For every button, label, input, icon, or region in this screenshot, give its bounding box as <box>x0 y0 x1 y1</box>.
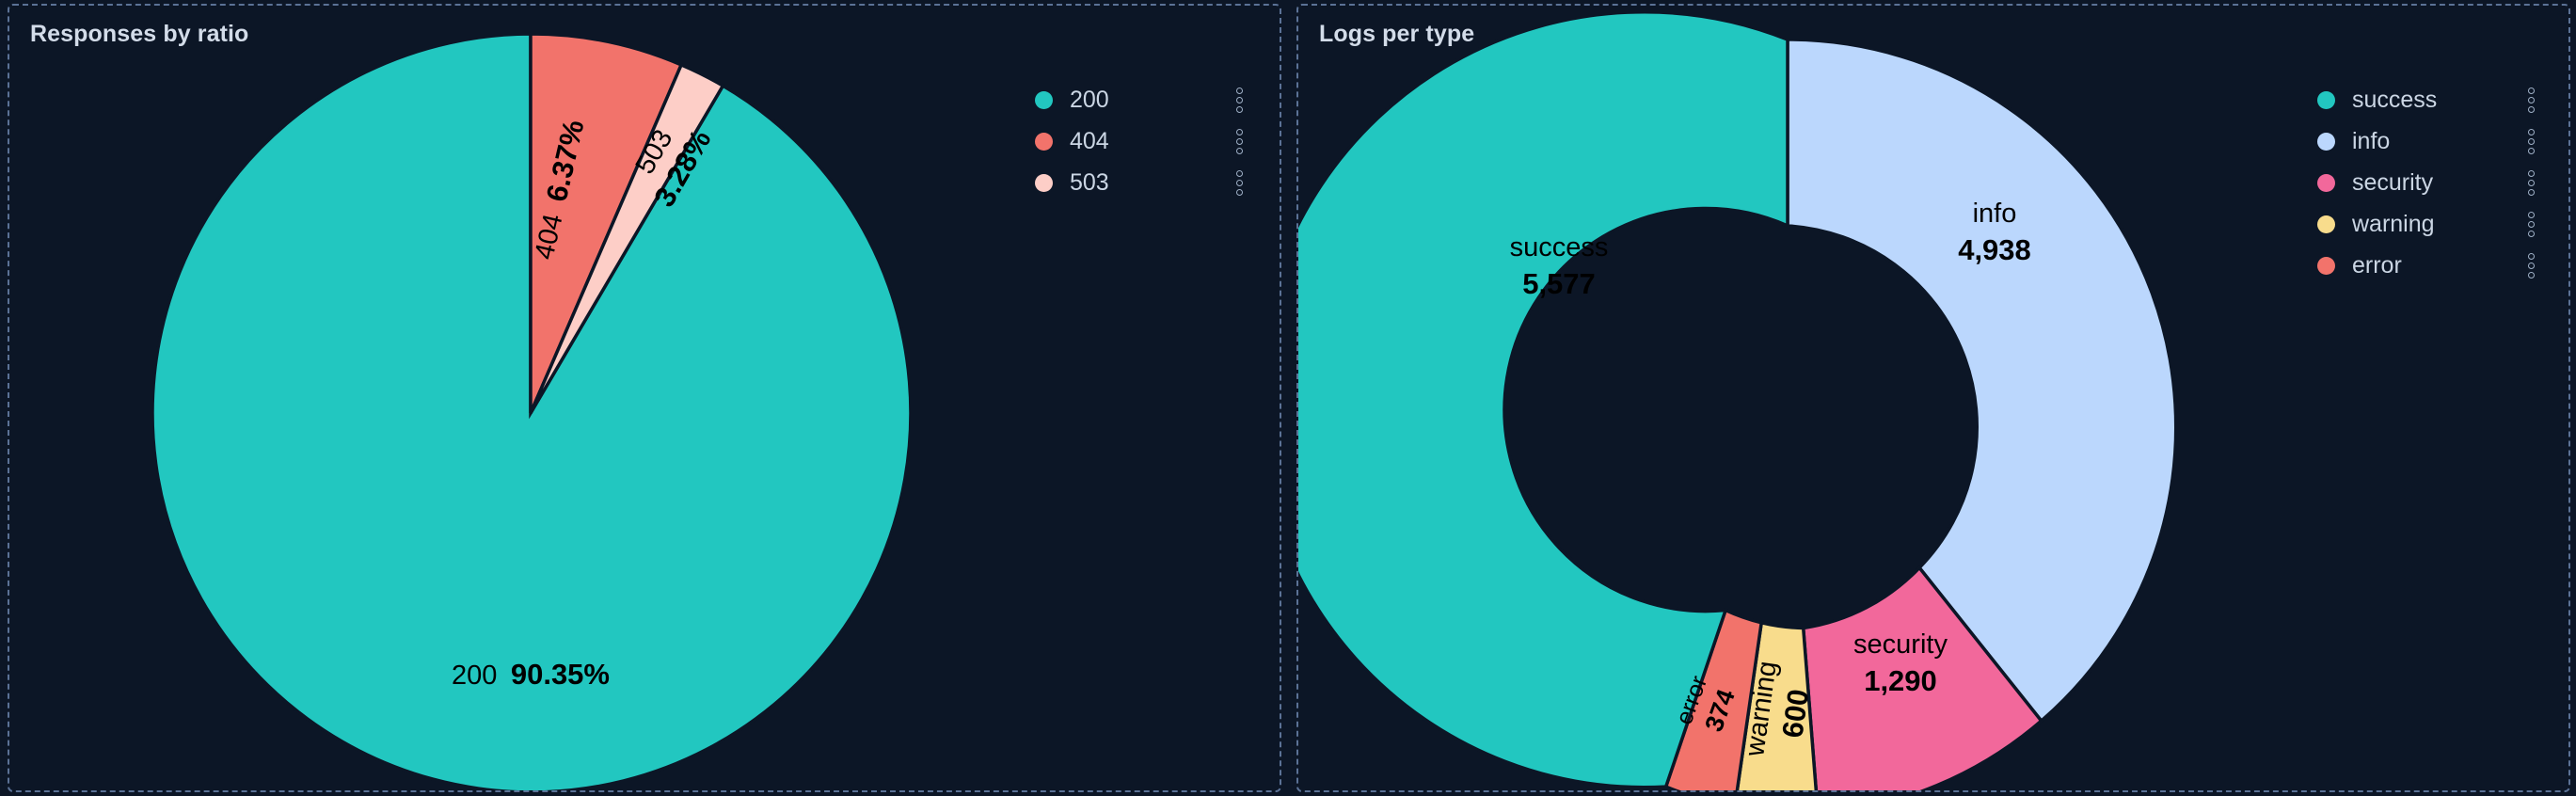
legend-item-label: 503 <box>1070 169 1109 197</box>
legend-item-error[interactable]: error <box>2317 245 2543 286</box>
legend-item-warning[interactable]: warning <box>2317 203 2543 245</box>
panel-logs-per-type: Logs per type success <box>1296 4 2570 792</box>
slice-label-name: success <box>1510 232 1609 263</box>
kebab-menu-icon[interactable] <box>2519 170 2543 196</box>
panel-responses-by-ratio: Responses by ratio 200 90.35% <box>8 4 1281 792</box>
legend-item-503[interactable]: 503 <box>1035 162 1251 203</box>
svg-text:4,938: 4,938 <box>1958 233 2031 266</box>
donut-chart-area: success 5,577 info 4,938 s <box>1298 6 2568 790</box>
kebab-menu-icon[interactable] <box>2519 253 2543 279</box>
legend-item-label: error <box>2352 252 2402 279</box>
legend-item-info[interactable]: info <box>2317 120 2543 162</box>
legend-item-404[interactable]: 404 <box>1035 120 1251 162</box>
legend-swatch-icon <box>2317 257 2335 275</box>
legend-item-label: security <box>2352 169 2433 197</box>
legend-swatch-icon <box>1035 133 1053 151</box>
legend-swatch-icon <box>1035 91 1053 109</box>
slice-label-value: 600 <box>1776 687 1816 740</box>
legend-swatch-icon <box>1035 174 1053 192</box>
legend-item-label: info <box>2352 128 2390 155</box>
slice-label-value: 5,577 <box>1522 267 1596 300</box>
svg-text:600: 600 <box>1776 687 1816 740</box>
dashboard: Responses by ratio 200 90.35% <box>0 0 2576 796</box>
svg-text:200 90.35%: 200 90.35% <box>452 658 610 691</box>
kebab-menu-icon[interactable] <box>2519 88 2543 113</box>
pie-slice-label-200: 200 90.35% <box>452 658 610 691</box>
slice-label-name: 200 <box>452 661 497 691</box>
pie-legend: 200 404 503 <box>1035 79 1251 203</box>
legend-swatch-icon <box>2317 215 2335 233</box>
svg-text:1,290: 1,290 <box>1864 664 1937 697</box>
legend-item-label: success <box>2352 87 2437 114</box>
legend-item-label: warning <box>2352 211 2435 238</box>
pie-chart-area: 200 90.35% 404 6.37% 503 3.28% <box>9 6 1280 790</box>
slice-label-value: 1,290 <box>1864 664 1937 697</box>
legend-item-200[interactable]: 200 <box>1035 79 1251 120</box>
legend-item-security[interactable]: security <box>2317 162 2543 203</box>
legend-swatch-icon <box>2317 133 2335 151</box>
legend-swatch-icon <box>2317 91 2335 109</box>
legend-item-label: 404 <box>1070 128 1109 155</box>
donut-legend: success info security <box>2317 79 2543 286</box>
kebab-menu-icon[interactable] <box>1227 129 1251 154</box>
svg-text:5,577: 5,577 <box>1522 267 1596 300</box>
kebab-menu-icon[interactable] <box>2519 129 2543 154</box>
legend-item-label: 200 <box>1070 87 1109 114</box>
slice-label-value: 90.35% <box>511 658 610 691</box>
legend-swatch-icon <box>2317 174 2335 192</box>
slice-label-name: security <box>1853 629 1948 660</box>
slice-label-value: 4,938 <box>1958 233 2031 266</box>
slice-label-name: info <box>1973 199 2017 229</box>
legend-item-success[interactable]: success <box>2317 79 2543 120</box>
svg-text:success: success <box>1510 232 1609 263</box>
kebab-menu-icon[interactable] <box>1227 88 1251 113</box>
kebab-menu-icon[interactable] <box>1227 170 1251 196</box>
kebab-menu-icon[interactable] <box>2519 212 2543 237</box>
svg-text:info: info <box>1973 199 2017 229</box>
svg-text:security: security <box>1853 629 1948 660</box>
